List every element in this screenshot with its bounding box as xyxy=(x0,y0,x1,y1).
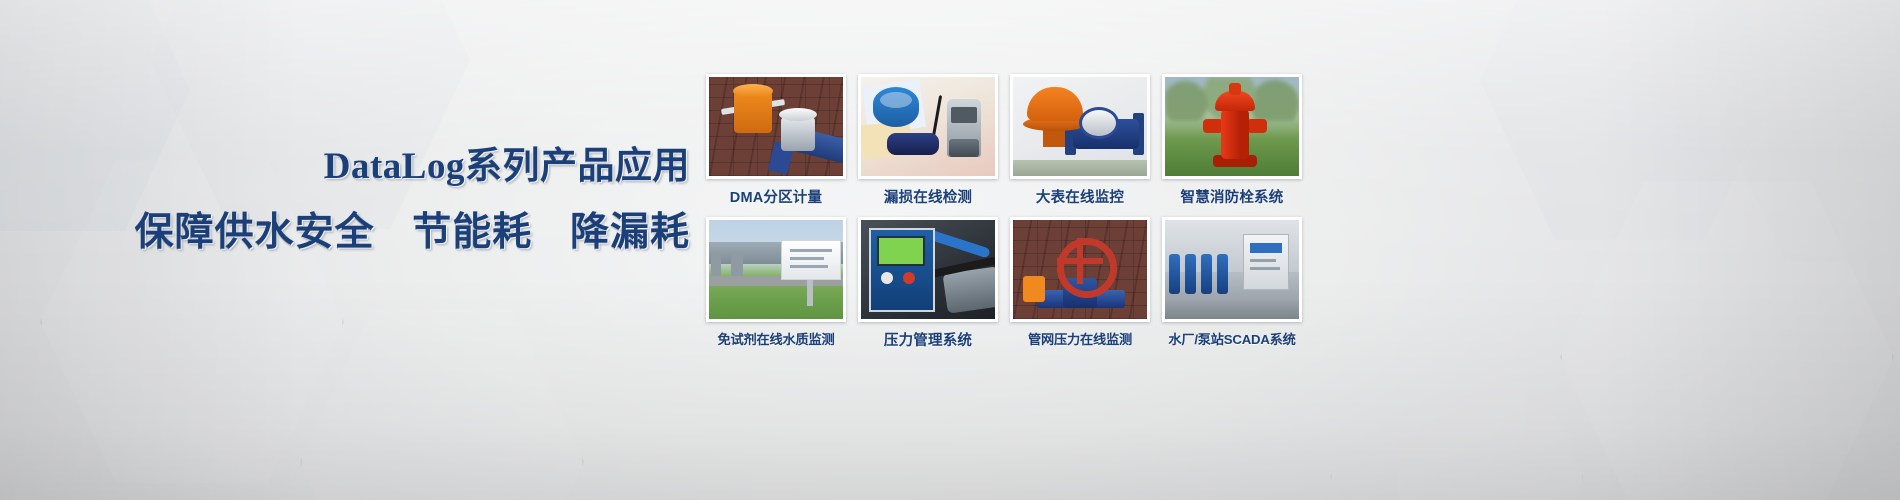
product-thumbnail-leak-detection[interactable] xyxy=(858,74,998,179)
product-caption: 漏损在线检测 xyxy=(858,186,998,207)
product-thumbnail-scada-system[interactable] xyxy=(1162,217,1302,322)
headline-line-2-part-2: 节能耗 xyxy=(412,211,532,254)
hexagon-shape xyxy=(300,300,584,500)
product-caption: 智慧消防栓系统 xyxy=(1162,186,1302,207)
product-photo-scada-system xyxy=(1165,220,1299,319)
product-caption: 免试剂在线水质监测 xyxy=(706,329,846,348)
headline-line-1: DataLog系列产品应用 xyxy=(0,144,690,190)
headline-line-2-part-1: 保障供水安全 xyxy=(135,211,375,254)
product-caption: 管网压力在线监测 xyxy=(1010,329,1150,348)
product-photo-reagentless-water-quality xyxy=(709,220,843,319)
headline-line-2: 保障供水安全 节能耗 降漏耗 xyxy=(0,208,690,258)
product-tile[interactable]: 大表在线监控 xyxy=(1010,74,1150,207)
product-caption: 压力管理系统 xyxy=(858,329,998,350)
product-tile[interactable]: 压力管理系统 xyxy=(858,217,998,350)
product-photo-large-meter-monitoring xyxy=(1013,77,1147,176)
headline-line-2-part-3: 降漏耗 xyxy=(570,211,690,254)
product-tile[interactable]: 水厂/泵站SCADA系统 xyxy=(1162,217,1302,350)
hexagon-shape xyxy=(1720,0,1900,270)
product-thumbnail-smart-hydrant[interactable] xyxy=(1162,74,1302,179)
hexagon-shape xyxy=(1560,170,1894,500)
hexagon-shape xyxy=(1480,0,1780,250)
hexagon-shape xyxy=(1330,330,1584,500)
product-thumbnail-pressure-management[interactable] xyxy=(858,217,998,322)
product-thumbnail-dma-metering[interactable] xyxy=(706,74,846,179)
product-thumbnail-reagentless-water-quality[interactable] xyxy=(706,217,846,322)
product-photo-pressure-management xyxy=(861,220,995,319)
product-photo-smart-hydrant xyxy=(1165,77,1299,176)
product-tile[interactable]: DMA分区计量 xyxy=(706,74,846,207)
product-tile[interactable]: 免试剂在线水质监测 xyxy=(706,217,846,350)
product-tile[interactable]: 管网压力在线监测 xyxy=(1010,217,1150,350)
headline-block: DataLog系列产品应用 保障供水安全 节能耗 降漏耗 xyxy=(0,144,690,258)
product-caption: 大表在线监控 xyxy=(1010,186,1150,207)
product-photo-dma-metering xyxy=(709,77,843,176)
product-tile[interactable]: 智慧消防栓系统 xyxy=(1162,74,1302,207)
promo-banner: DataLog系列产品应用 保障供水安全 节能耗 降漏耗 DMA分区计量 xyxy=(0,0,1900,500)
product-caption: DMA分区计量 xyxy=(706,186,846,207)
product-caption: 水厂/泵站SCADA系统 xyxy=(1162,329,1302,348)
product-tile[interactable]: 漏损在线检测 xyxy=(858,74,998,207)
product-thumbnail-large-meter-monitoring[interactable] xyxy=(1010,74,1150,179)
product-thumbnail-network-pressure-monitoring[interactable] xyxy=(1010,217,1150,322)
product-photo-network-pressure-monitoring xyxy=(1013,220,1147,319)
product-tile-grid: DMA分区计量 漏损在线检测 大表在线监控 xyxy=(706,74,1302,350)
product-photo-leak-detection xyxy=(861,77,995,176)
